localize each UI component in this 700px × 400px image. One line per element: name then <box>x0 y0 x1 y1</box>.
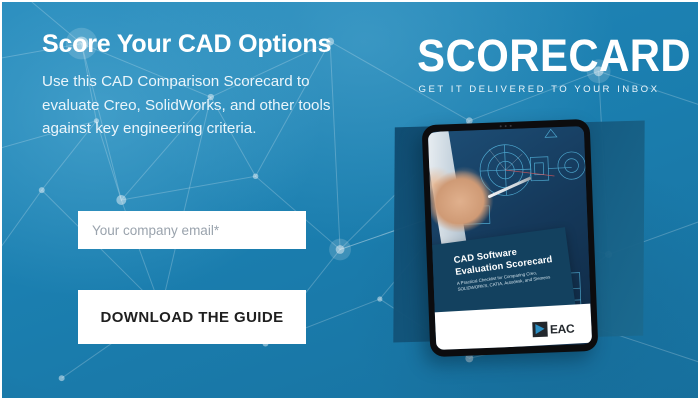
tablet-camera-icon <box>500 125 512 127</box>
download-the-guide-button[interactable]: DOWNLOAD THE GUIDE <box>78 290 306 344</box>
eac-logo: EAC <box>533 321 575 338</box>
promo-banner: Score Your CAD Options Use this CAD Comp… <box>0 0 700 400</box>
brand-title: SCORECARD <box>417 34 661 78</box>
brand-tagline: GET IT DELIVERED TO YOUR INBOX <box>408 84 670 95</box>
page-title: Score Your CAD Options <box>42 30 372 59</box>
brand-lockup: SCORECARD GET IT DELIVERED TO YOUR INBOX <box>408 34 670 95</box>
eac-logo-text: EAC <box>550 321 575 336</box>
eac-arrow-mark-icon <box>533 322 549 338</box>
description-text: Use this CAD Comparison Scorecard to eva… <box>42 70 354 141</box>
tablet-screen: CAD Software Evaluation Scorecard A Prac… <box>428 126 592 350</box>
email-input[interactable] <box>78 211 306 249</box>
tablet-device-mockup: CAD Software Evaluation Scorecard A Prac… <box>422 119 599 357</box>
